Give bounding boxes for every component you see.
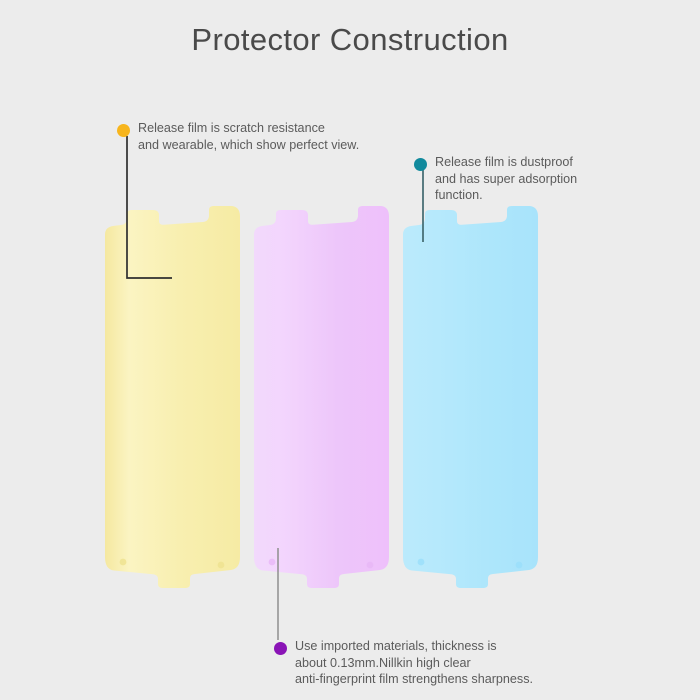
film-layer-pink — [252, 205, 392, 590]
bullet-dot-icon — [117, 124, 130, 137]
annotation-text: Use imported materials, thickness is abo… — [295, 638, 614, 688]
annotation-scratch-resistance: Release film is scratch resistance and w… — [117, 120, 417, 153]
leader-line-imported-materials — [274, 548, 282, 640]
annotation-imported-materials: Use imported materials, thickness is abo… — [274, 638, 614, 688]
bullet-dot-icon — [414, 158, 427, 171]
annotation-text: Release film is scratch resistance and w… — [138, 120, 417, 153]
film-layer-cyan — [401, 205, 541, 590]
bullet-dot-icon — [274, 642, 287, 655]
leader-line-scratch-resistance — [120, 136, 180, 286]
diagram-canvas: Protector Construction — [0, 0, 700, 700]
page-title: Protector Construction — [0, 22, 700, 58]
annotation-dustproof: Release film is dustproof and has super … — [414, 154, 644, 204]
annotation-text: Release film is dustproof and has super … — [435, 154, 644, 204]
